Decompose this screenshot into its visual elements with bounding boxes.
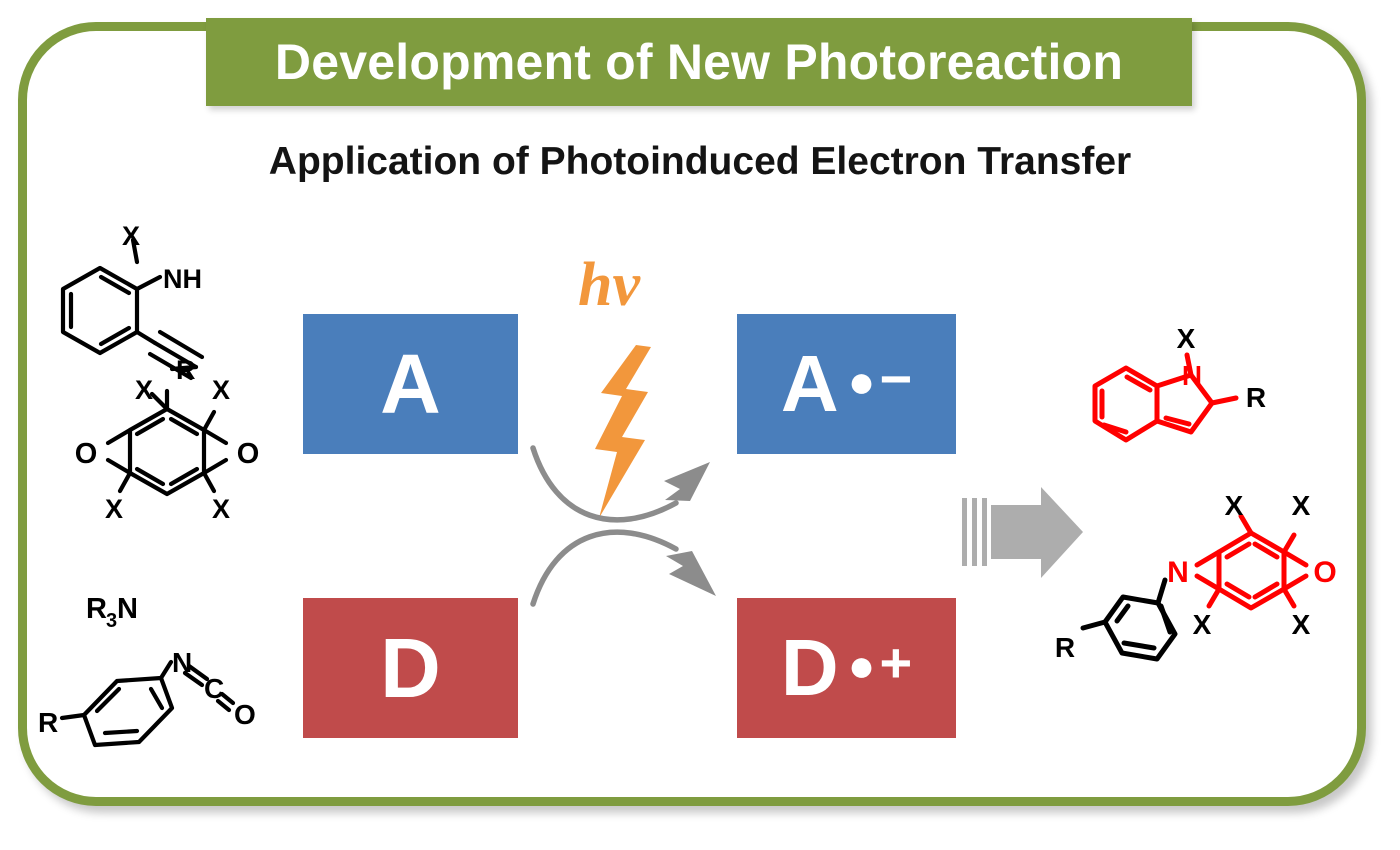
quinone-x1-label: X [135,375,153,405]
aniline-nh-label: NH [163,264,202,294]
arrow-up-right-head-icon [664,462,710,501]
quinone-oxygen-right-label: O [237,438,260,470]
amine-subscript-label: 3 [106,610,117,632]
quinone-oxygen-left-label: O [75,438,98,470]
isocyanate-r-label: R [38,707,58,738]
crossing-electron-transfer-arrows [533,448,676,604]
aniline-x-label: X [122,221,140,251]
quinone-imine-x3-label: X [1193,609,1212,640]
aniline-r-label: R [176,355,196,385]
quinone-x4-label: X [212,494,230,524]
isocyanate-o-label: O [234,699,256,730]
trialkylamine: R 3 N [86,593,138,632]
lightning-bolt-icon [595,345,651,518]
n-substituted-2-aryl-indole [1095,355,1236,440]
indole-nitrogen-label: N [1182,360,1202,391]
arrow-up-right-path [533,448,676,520]
tetrasubstituted-benzoquinone [108,391,226,494]
quinone-x2-label: X [212,375,230,405]
quinone-imine-aryl-ring [1083,580,1175,659]
isocyanate-n-label: N [172,647,192,678]
amine-r-label: R [86,593,107,625]
arrow-down-right-path [533,532,676,604]
indole-x-label: X [1177,323,1196,354]
block-arrow-right-icon [962,487,1083,578]
diagram-vector-layer: X NH R X X X X O O R 3 N [0,0,1400,850]
quinone-x3-label: X [105,494,123,524]
indole-r-label: R [1246,382,1266,413]
quinone-imine-x1-label: X [1225,490,1244,521]
quinone-imine-ring [1197,516,1306,608]
isocyanate-c-label: C [204,673,224,704]
quinone-imine-o-label: O [1313,556,1336,589]
quinone-imine-r-label: R [1055,632,1075,663]
amine-n-label: N [117,593,138,625]
arrow-down-right-head-icon [666,551,716,596]
quinone-imine-x4-label: X [1292,609,1311,640]
quinone-imine-x2-label: X [1292,490,1311,521]
quinone-imine-n-label: N [1167,556,1189,589]
